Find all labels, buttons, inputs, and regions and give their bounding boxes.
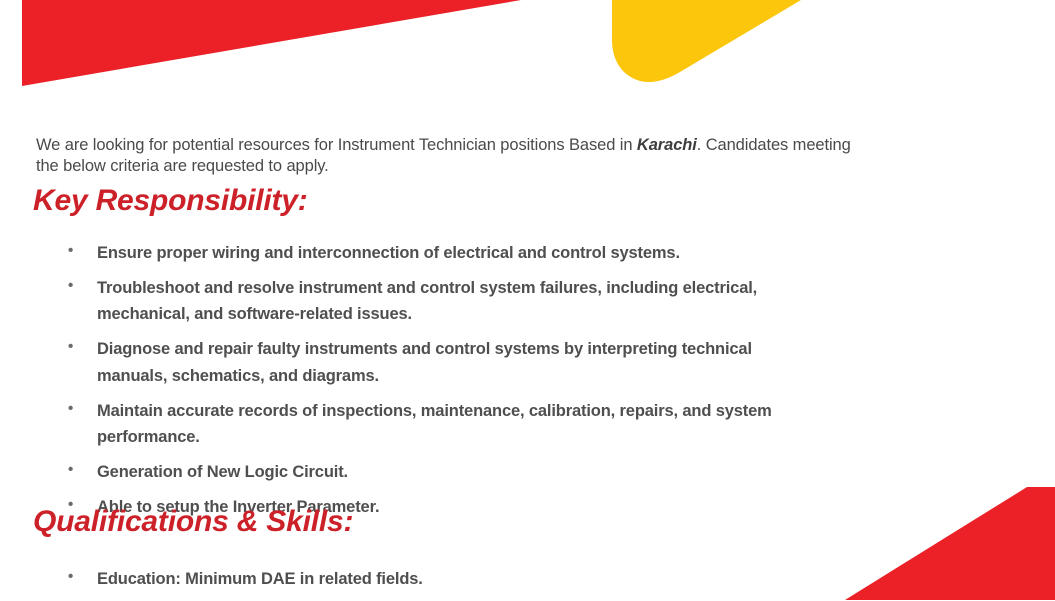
intro-location: Karachi <box>637 136 697 154</box>
section-heading-qualifications-skills: Qualifications & Skills: <box>33 507 353 537</box>
list-key-responsibility: Ensure proper wiring and interconnection… <box>0 240 790 528</box>
section-heading-key-responsibility: Key Responsibility: <box>33 186 308 216</box>
list-item: Diagnose and repair faulty instruments a… <box>0 336 790 389</box>
document-body: We are looking for potential resources f… <box>0 0 1055 600</box>
list-item: Generation of New Logic Circuit. <box>0 459 790 486</box>
list-qualifications-skills: Education: Minimum DAE in related fields… <box>0 566 790 601</box>
intro-text-before: We are looking for potential resources f… <box>36 136 637 154</box>
list-item: Ensure proper wiring and interconnection… <box>0 240 790 267</box>
intro-paragraph: We are looking for potential resources f… <box>36 135 851 178</box>
list-item: Troubleshoot and resolve instrument and … <box>0 275 790 328</box>
list-item: Maintain accurate records of inspections… <box>0 398 790 451</box>
list-item: Education: Minimum DAE in related fields… <box>0 566 790 593</box>
